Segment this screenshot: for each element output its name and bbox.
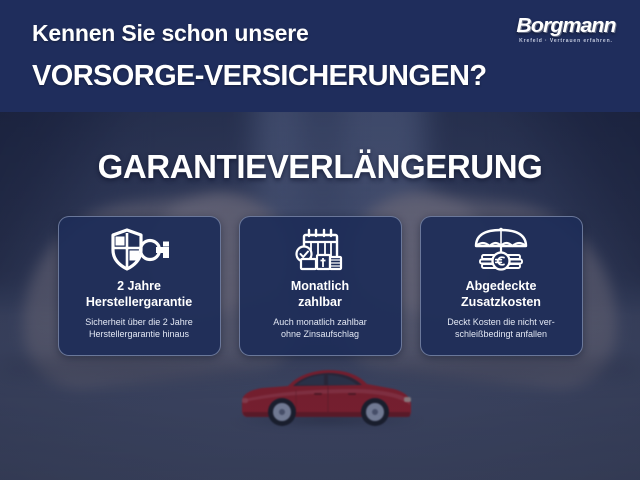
feature-card-subtitle: Deckt Kosten die nicht ver- schleißbedin… bbox=[447, 316, 555, 340]
feature-card-title-line1: Abgedeckte bbox=[461, 279, 541, 295]
logo-tagline-left: Krefeld bbox=[519, 38, 543, 44]
feature-card-title: 2 Jahre Herstellergarantie bbox=[86, 279, 192, 310]
header-title: VORSORGE-VERSICHERUNGEN? bbox=[32, 60, 487, 93]
main-headline: GARANTIEVERLÄNGERUNG bbox=[0, 148, 640, 186]
feature-card-title: Abgedeckte Zusatzkosten bbox=[461, 279, 541, 310]
header-subline: Kennen Sie schon unsere bbox=[32, 20, 309, 47]
feature-cards: 2 Jahre Herstellergarantie Sicherheit üb… bbox=[0, 216, 640, 356]
feature-card-sub-line2: schleißbedingt anfallen bbox=[447, 328, 555, 340]
logo-wordmark: Borgmann bbox=[502, 16, 629, 36]
feature-card-sub-line1: Auch monatlich zahlbar bbox=[273, 316, 367, 328]
feature-card-extra-costs[interactable]: Abgedeckte Zusatzkosten Deckt Kosten die… bbox=[420, 216, 583, 356]
promo-banner: Kennen Sie schon unsere VORSORGE-VERSICH… bbox=[0, 0, 640, 480]
logo-tagline-separator: · bbox=[545, 38, 548, 44]
feature-card-title: Monatlich zahlbar bbox=[291, 279, 349, 310]
feature-card-sub-line1: Sicherheit über die 2 Jahre bbox=[85, 316, 193, 328]
calendar-coins-icon bbox=[293, 227, 347, 273]
feature-card-title-line1: 2 Jahre bbox=[86, 279, 192, 295]
feature-card-title-line1: Monatlich bbox=[291, 279, 349, 295]
feature-card-sub-line2: ohne Zinsaufschlag bbox=[273, 328, 367, 340]
feature-card-title-line2: zahlbar bbox=[291, 295, 349, 311]
shield-key-icon bbox=[108, 227, 170, 273]
feature-card-sub-line2: Herstellergarantie hinaus bbox=[85, 328, 193, 340]
feature-card-title-line2: Herstellergarantie bbox=[86, 295, 192, 311]
feature-card-sub-line1: Deckt Kosten die nicht ver- bbox=[447, 316, 555, 328]
umbrella-euro-coins-icon bbox=[471, 227, 531, 273]
logo-tagline-right: Vertrauen erfahren. bbox=[550, 38, 613, 44]
borgmann-logo[interactable]: Borgmann Krefeld · Vertrauen erfahren. bbox=[506, 16, 626, 44]
feature-card-subtitle: Sicherheit über die 2 Jahre Herstellerga… bbox=[85, 316, 193, 340]
feature-card-monthly-payment[interactable]: Monatlich zahlbar Auch monatlich zahlbar… bbox=[239, 216, 402, 356]
logo-tagline: Krefeld · Vertrauen erfahren. bbox=[506, 38, 626, 44]
feature-card-title-line2: Zusatzkosten bbox=[461, 295, 541, 311]
header-band: Kennen Sie schon unsere VORSORGE-VERSICH… bbox=[0, 0, 640, 112]
feature-card-warranty[interactable]: 2 Jahre Herstellergarantie Sicherheit üb… bbox=[58, 216, 221, 356]
feature-card-subtitle: Auch monatlich zahlbar ohne Zinsaufschla… bbox=[273, 316, 367, 340]
